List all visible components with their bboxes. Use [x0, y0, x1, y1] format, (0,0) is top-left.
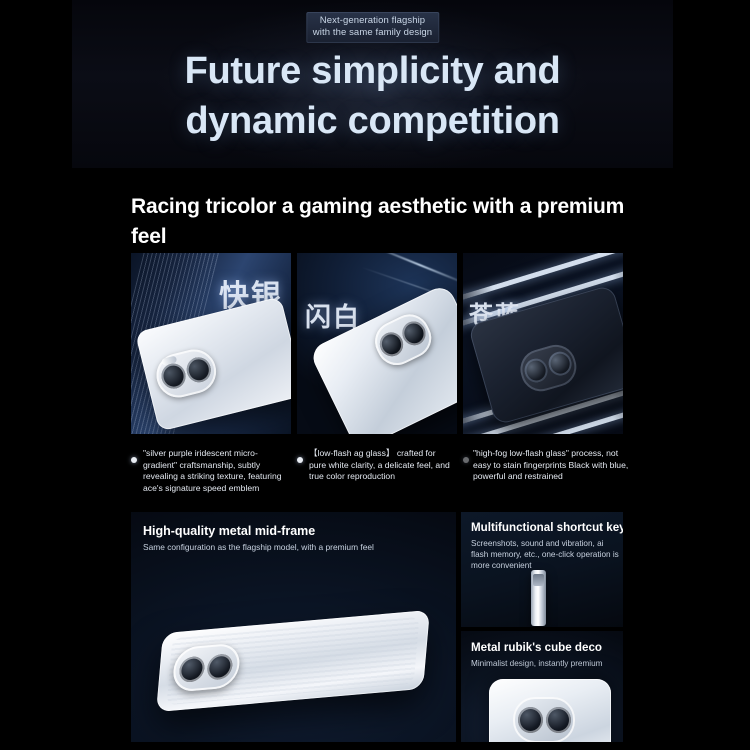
hero-badge-line2: with the same family design	[313, 27, 432, 39]
gallery-item-deep-blue[interactable]: 苍蓝	[463, 253, 623, 434]
feature-title-cube: Metal rubik's cube deco	[471, 641, 602, 654]
feature-body-shortcut: Screenshots, sound and vibration, ai fla…	[471, 538, 621, 571]
feature-body-cube: Minimalist design, instantly premium	[471, 658, 621, 669]
lens-icon	[546, 349, 575, 378]
caption-flash-white: 【low-flash ag glass】 crafted for pure wh…	[297, 448, 453, 483]
lens-icon	[178, 656, 205, 683]
camera-module	[152, 345, 221, 402]
bullet-dot-icon	[131, 457, 137, 463]
lens-icon	[522, 356, 551, 385]
feature-card-shortcut[interactable]: Multifunctional shortcut keys Screenshot…	[461, 512, 623, 627]
caption-deep-blue: "high-fog low-flash glass" process, not …	[463, 448, 629, 483]
silver-purple-artwork: 快银	[131, 253, 291, 434]
camera-module	[368, 308, 438, 372]
camera-module	[172, 642, 242, 692]
lens-icon	[184, 355, 213, 385]
bullet-dot-icon	[463, 457, 469, 463]
lens-icon	[518, 707, 543, 733]
lens-icon	[546, 707, 571, 733]
flash-white-artwork: 闪白	[297, 253, 457, 434]
feature-card-cube[interactable]: Metal rubik's cube deco Minimalist desig…	[461, 631, 623, 742]
camera-module	[516, 340, 581, 396]
hero-title-line1: Future simplicity and	[72, 46, 673, 96]
gallery-item-silver-purple[interactable]: 快银	[131, 253, 291, 434]
caption-text: "silver purple iridescent micro-gradient…	[143, 448, 287, 494]
hero-banner: Next-generation flagship with the same f…	[72, 0, 673, 168]
deep-blue-artwork: 苍蓝	[463, 253, 623, 434]
feature-title-midframe: High-quality metal mid-frame	[143, 524, 315, 538]
hero-title-line2: dynamic competition	[72, 96, 673, 146]
caption-text: 【low-flash ag glass】 crafted for pure wh…	[309, 448, 453, 483]
gallery-captions: "silver purple iridescent micro-gradient…	[131, 448, 631, 510]
lens-icon	[159, 361, 188, 391]
section-subheading: Racing tricolor a gaming aesthetic with …	[131, 192, 651, 252]
lens-icon	[206, 653, 233, 680]
caption-silver-purple: "silver purple iridescent micro-gradient…	[131, 448, 287, 494]
phone-flat-view	[156, 610, 430, 712]
colour-gallery: 快银 闪白	[131, 253, 623, 434]
shortcut-key-illustration	[531, 570, 546, 626]
phone-cube-deco	[489, 679, 611, 742]
hero-badge: Next-generation flagship with the same f…	[306, 12, 439, 43]
gallery-item-flash-white[interactable]: 闪白	[297, 253, 457, 434]
feature-card-midframe[interactable]: High-quality metal mid-frame Same config…	[131, 512, 456, 742]
hero-title: Future simplicity and dynamic competitio…	[72, 46, 673, 146]
caption-text: "high-fog low-flash glass" process, not …	[473, 448, 629, 483]
feature-title-shortcut: Multifunctional shortcut keys	[471, 521, 623, 534]
product-page: Next-generation flagship with the same f…	[0, 0, 750, 750]
bullet-dot-icon	[297, 457, 303, 463]
hero-badge-line1: Next-generation flagship	[313, 15, 432, 27]
feature-body-midframe: Same configuration as the flagship model…	[143, 542, 374, 553]
camera-module	[513, 697, 575, 742]
